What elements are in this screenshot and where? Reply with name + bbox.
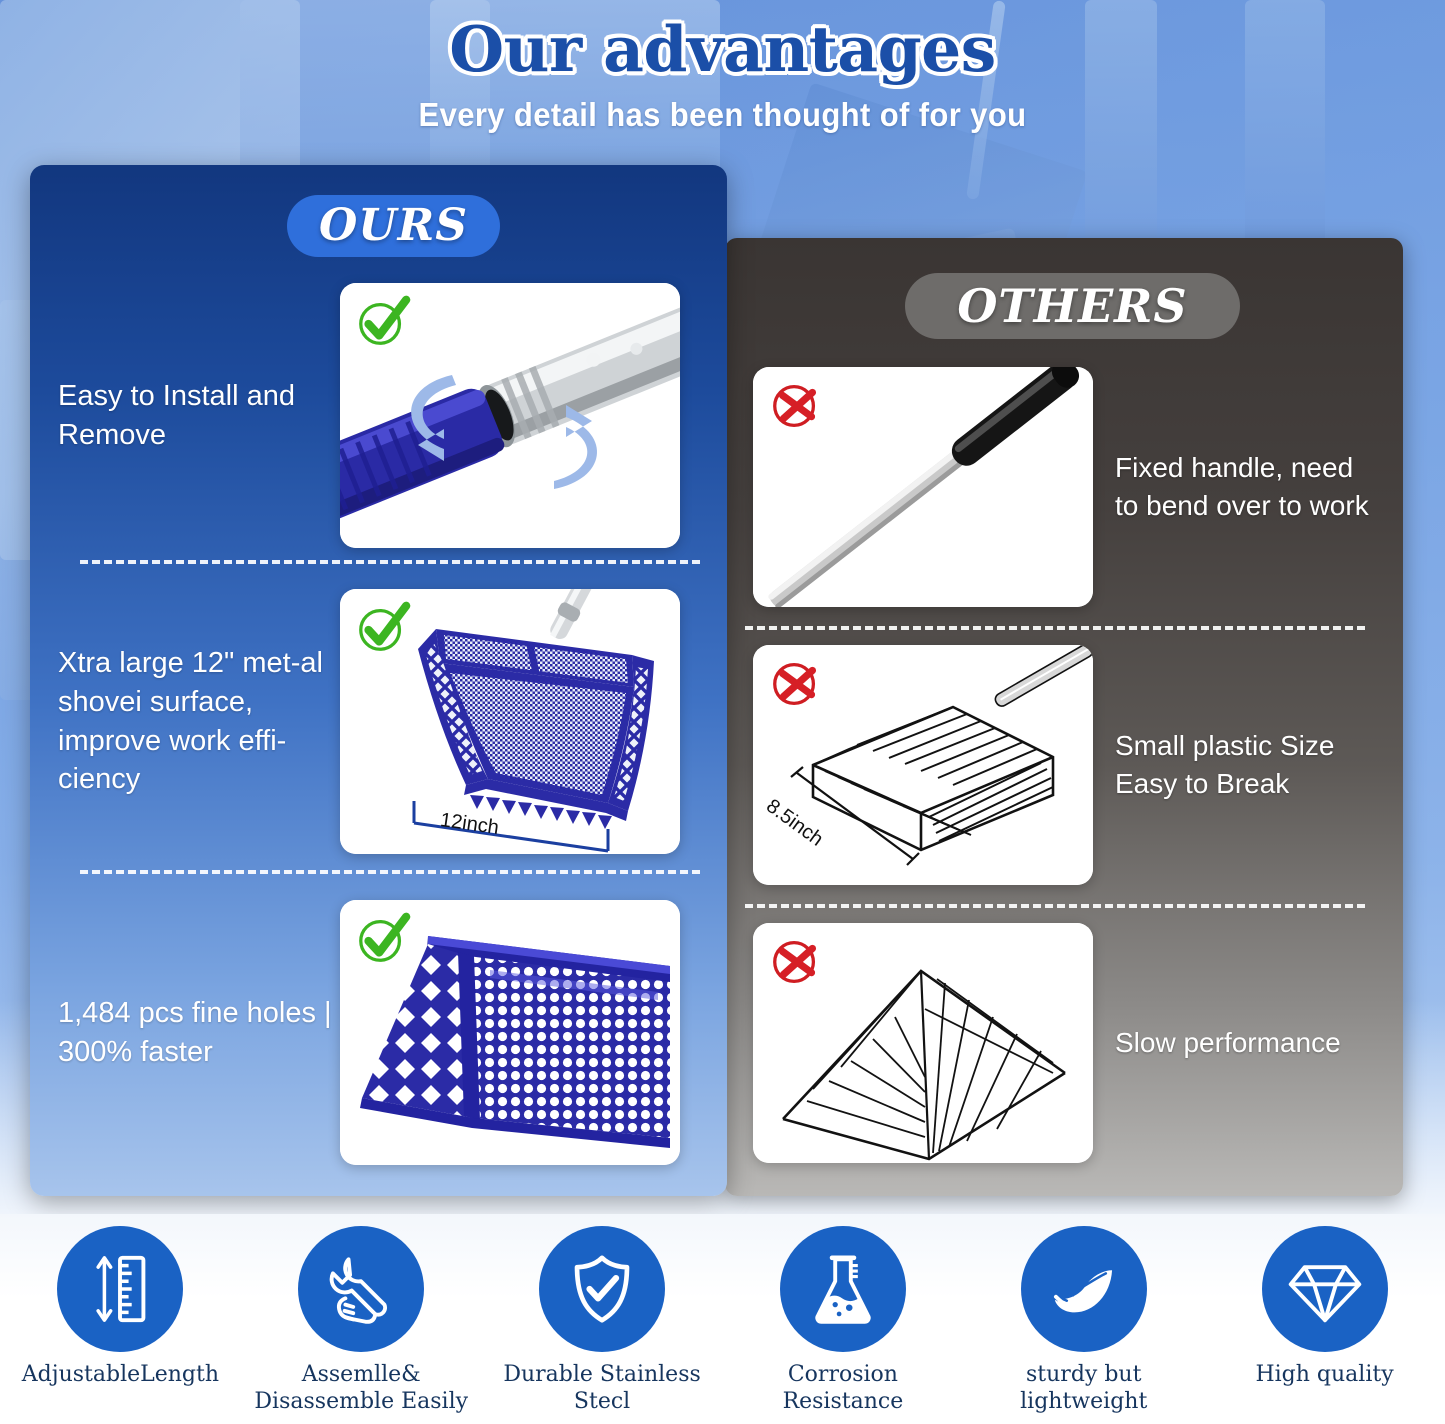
ours-panel: OURS Easy to Install and Remove <box>30 165 727 1196</box>
feature-assemble-disassemble: Assemlle& Disassemble Easily <box>241 1214 482 1424</box>
large-mesh-scoop-photo: 12inch <box>340 589 680 854</box>
others-divider-1 <box>745 626 1365 630</box>
ours-row-2: Xtra large 12" met-al shovei surface, im… <box>58 589 718 854</box>
feature-corrosion-resistance: Corrosion Resistance <box>722 1214 963 1424</box>
others-row-2-label: Small plastic Size Easy to Break <box>1093 727 1383 803</box>
green-check-icon <box>354 910 412 968</box>
red-cross-icon <box>767 933 825 991</box>
feature-label: Corrosion Resistance <box>783 1362 904 1416</box>
ruler-icon <box>57 1226 183 1352</box>
red-cross-icon <box>767 377 825 435</box>
ours-row-3: 1,484 pcs fine holes | 300% faster <box>58 900 718 1165</box>
red-cross-icon <box>767 655 825 713</box>
quick-connect-handle-photo <box>340 283 680 548</box>
feature-high-quality: High quality <box>1204 1214 1445 1424</box>
ours-divider-1 <box>80 560 700 564</box>
others-badge: OTHERS <box>905 273 1240 339</box>
fine-hole-mesh-closeup-photo <box>340 900 680 1165</box>
others-row-1: Fixed handle, need to bend over to work <box>753 367 1383 607</box>
ours-divider-2 <box>80 870 700 874</box>
feature-label: Durable Stainless Stecl <box>503 1362 700 1416</box>
feature-label: Assemlle& Disassemble Easily <box>254 1362 468 1416</box>
wrench-hand-icon <box>298 1226 424 1352</box>
fixed-black-handle-photo <box>753 367 1093 607</box>
feature-durable-stainless-steel: Durable Stainless Stecl <box>482 1214 723 1424</box>
others-row-2: 8.5inch Small plastic Size Easy to Break <box>753 645 1383 885</box>
green-check-icon <box>354 599 412 657</box>
others-row-3-label: Slow performance <box>1093 1024 1341 1062</box>
page-subtitle: Every detail has been thought of for you <box>43 96 1401 134</box>
feather-icon <box>1021 1226 1147 1352</box>
others-divider-2 <box>745 904 1365 908</box>
small-wire-scoop-photo: 8.5inch <box>753 645 1093 885</box>
header: Our advantages Every detail has been tho… <box>0 0 1445 134</box>
feature-label: sturdy but lightweight <box>1020 1362 1147 1416</box>
page-title: Our advantages <box>0 0 1445 81</box>
others-row-3: Slow performance <box>753 923 1383 1163</box>
ours-row-1-label: Easy to Install and Remove <box>58 377 340 454</box>
ours-row-2-label: Xtra large 12" met-al shovei surface, im… <box>58 644 340 798</box>
ours-badge: OURS <box>287 195 500 257</box>
ours-row-1: Easy to Install and Remove <box>58 283 718 548</box>
feature-adjustable-length: AdjustableLength <box>0 1214 241 1424</box>
flask-icon <box>780 1226 906 1352</box>
green-check-icon <box>354 293 412 351</box>
shield-check-icon <box>539 1226 665 1352</box>
feature-sturdy-lightweight: sturdy but lightweight <box>963 1214 1204 1424</box>
sparse-wire-rake-photo <box>753 923 1093 1163</box>
feature-strip: AdjustableLength Assemlle& Disassemble E… <box>0 1214 1445 1424</box>
feature-label: AdjustableLength <box>22 1362 219 1389</box>
feature-label: High quality <box>1255 1362 1393 1389</box>
others-row-1-label: Fixed handle, need to bend over to work <box>1093 449 1383 525</box>
ours-row-3-label: 1,484 pcs fine holes | 300% faster <box>58 994 340 1071</box>
diamond-icon <box>1262 1226 1388 1352</box>
